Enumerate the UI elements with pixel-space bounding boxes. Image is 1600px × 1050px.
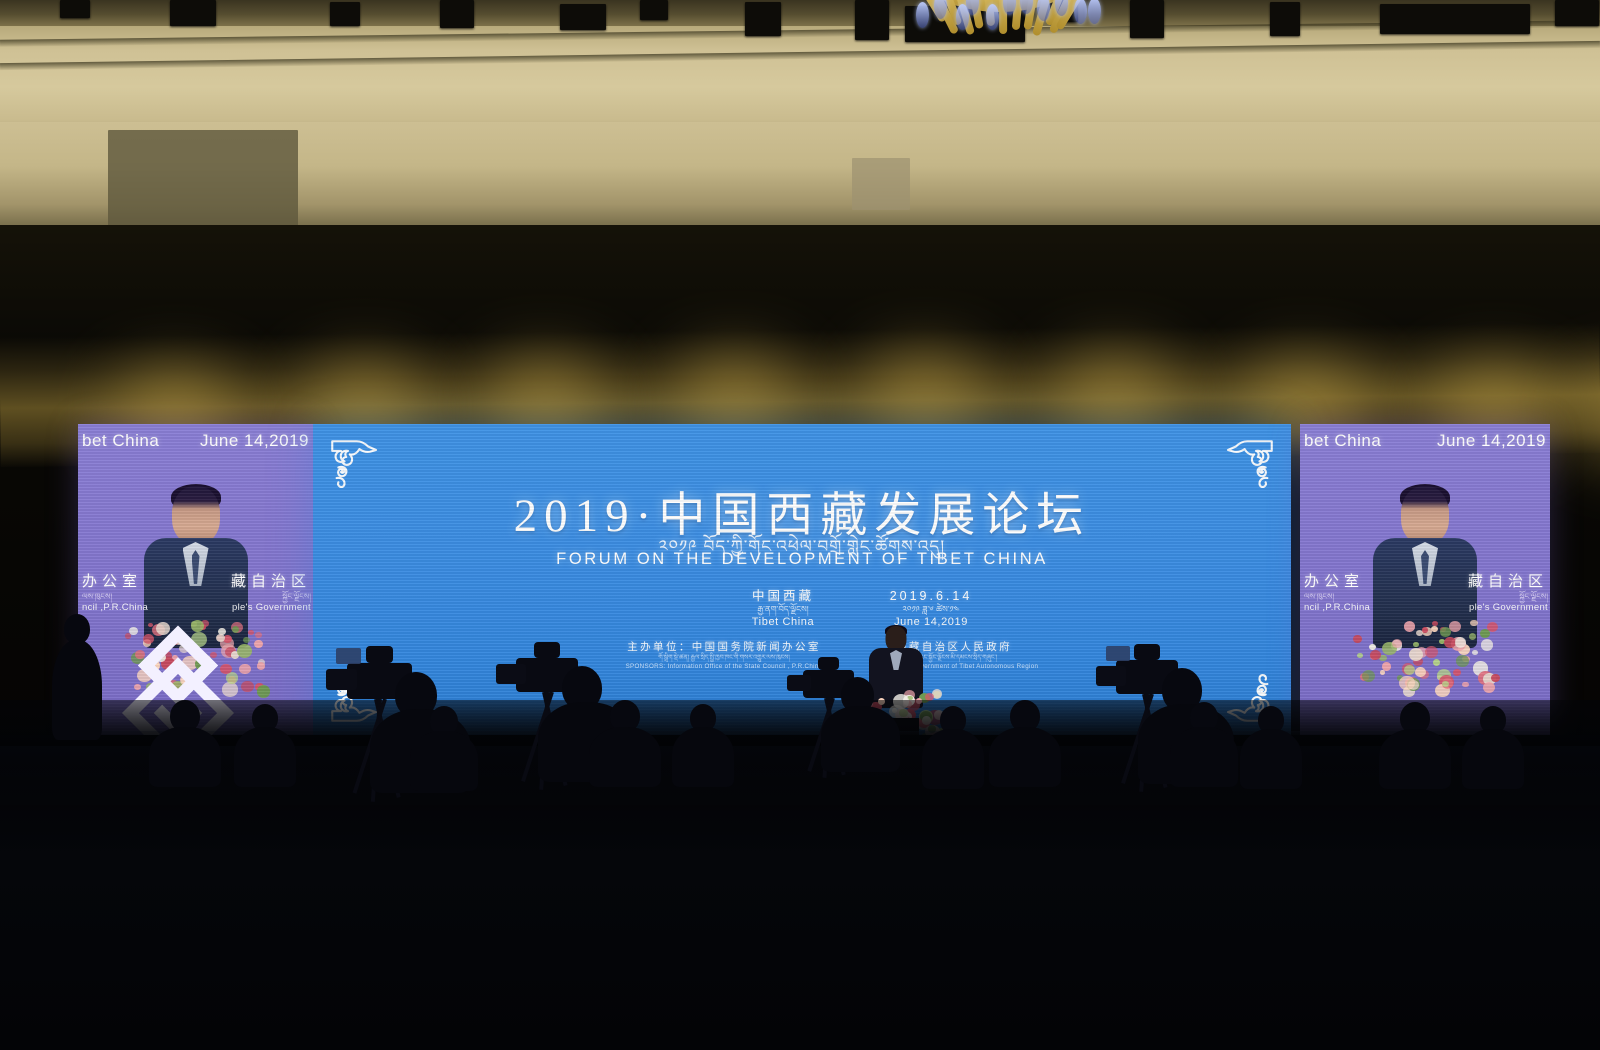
ceiling-spotlight [60,0,90,18]
ceiling-spotlight [745,2,781,36]
date-tibetan: ༢༠༡༩ ཟླ་༦ ཚེས་༡༤ [856,604,1006,615]
camera-monitor [336,648,361,664]
sponsor-cn-text: 办公室 [82,572,148,592]
attendant-body [52,640,102,740]
speaker-head [1401,486,1449,544]
ceiling-spotlight [440,0,474,28]
ceiling-spotlight [1555,0,1599,26]
ceiling-spotlight [330,2,360,26]
flower [257,662,265,669]
flower [243,637,250,644]
sponsor-tibetan-text: ལས་ཁུངས། [82,592,148,602]
sponsor-en-text: ple's Government [1468,602,1548,614]
chandelier-crystal [1074,0,1087,24]
camera-top-handle [818,657,839,670]
camera-lens [326,669,358,690]
place-block: 中国西藏 རྒྱ་ནག་བོད་ལྗོངས། Tibet China [723,588,843,629]
sponsor-en-text: ncil ,P.R.China [1304,602,1370,614]
ceiling-spotlight [560,4,606,30]
side-screen-date-text: June 14,2019 [200,431,309,451]
side-screen-place-text: bet China [1304,431,1381,451]
upper-wall [0,122,1600,232]
side-screen-topline: bet China June 14,2019 [1300,431,1550,451]
ceiling-spotlight [1380,4,1530,34]
flower [1404,621,1415,632]
sponsor-tibetan-text: ལས་ཁུངས། [1304,592,1370,602]
foreground-torso [922,729,984,789]
side-screen-sponsor-left: 办公室 ལས་ཁུངས། ncil ,P.R.China [82,572,148,614]
sponsor-cn-text: 藏自治区 [1468,572,1548,592]
wall-panel [108,130,298,234]
flower [1440,627,1450,637]
foreground-torso [1379,729,1451,789]
side-screen-flowers [1350,604,1500,690]
flower [1456,655,1468,666]
sponsor-tibetan-text: སྐྱོང་ལྗོངས། [231,592,311,602]
camera-lens [496,664,526,684]
flower [1431,626,1438,632]
flower [1413,642,1418,647]
flower [1399,676,1415,690]
camera-top-handle [534,642,560,658]
foreground-torso [1462,729,1524,789]
foreground-torso [149,727,221,787]
ceiling-spotlight [640,0,668,20]
flower [1432,621,1437,626]
flower [255,632,262,638]
side-screen-date-text: June 14,2019 [1437,431,1546,451]
sponsor-en-text: ple's Government [231,602,311,614]
camera-top-handle [1134,644,1160,660]
camera-operator-body [821,706,900,772]
flower [1449,621,1461,632]
side-screen-sponsor-left: 办公室 ལས་ཁུངས། ncil ,P.R.China [1304,572,1370,614]
sponsor-cn-text: 办公室 [1304,572,1370,592]
side-screen-place-text: bet China [82,431,159,451]
broadcast-camera-rig [790,652,888,775]
speaker-head [172,486,220,544]
place-cn: 中国西藏 [723,588,843,604]
side-screen-sponsor-right: 藏自治区 སྐྱོང་ལྗོངས། ple's Government [1468,572,1548,614]
ceiling-spotlight [1270,2,1300,36]
flower [1469,633,1477,640]
flower [1353,635,1362,643]
wall-panel [852,158,910,210]
sponsor-cn-text: 藏自治区 [231,572,311,592]
foreground-torso [410,731,477,791]
flower [1382,662,1391,670]
standing-attendant [52,614,102,742]
side-screen-right: bet China June 14,2019 办公室 ལས་ཁུངས། ncil… [1300,424,1550,736]
side-screen-topline: bet China June 14,2019 [78,431,313,451]
flower [1362,670,1376,683]
flower [1409,648,1423,661]
foreground-torso [589,727,661,787]
flower [1404,665,1415,675]
foreground-torso [672,727,734,787]
camera-monitor [1106,646,1130,661]
flower [1369,644,1376,650]
flower [1370,650,1381,660]
flower [1462,682,1468,688]
camera-lens [787,675,812,691]
ceiling-band [0,41,1600,70]
camera-top-handle [366,646,393,663]
foreground-torso [234,727,296,787]
date-block: 2019.6.14 ༢༠༡༩ ཟླ་༦ ཚེས་༡༤ June 14,2019 [856,588,1006,629]
flower [1481,639,1493,650]
chandelier-crystal [1088,0,1101,24]
flower [1472,650,1478,655]
flower [248,630,254,636]
sponsor-en-text: ncil ,P.R.China [82,602,148,614]
flower [1425,646,1438,658]
flower [1357,653,1363,659]
foreground-torso [1240,729,1302,789]
ceiling-soffit [0,0,1600,26]
chandelier-crystal [916,2,929,28]
ceiling-spotlight [170,0,216,26]
flower [1487,622,1498,632]
flower [1433,659,1440,666]
place-tibetan: རྒྱ་ནག་བོད་ལྗོངས། [723,604,843,615]
foreground-torso [989,727,1061,787]
camera-lens [1096,666,1126,686]
date-cn: 2019.6.14 [856,588,1006,604]
photo-scene: bet China June 14,2019 办公室 ལས་ཁུངས། ncil… [0,0,1600,1050]
foreground-torso [1170,727,1237,787]
flower [254,640,263,648]
flower [1380,670,1385,675]
sponsor-tibetan-text: སྐྱོང་ལྗོངས། [1468,592,1548,602]
forum-title-english: FORUM ON THE DEVELOPMENT OF TIBET CHINA [313,550,1291,569]
side-screen-sponsor-right: 藏自治区 སྐྱོང་ལྗོངས། ple's Government [231,572,311,614]
place-en: Tibet China [723,615,843,629]
golden-chandelier [855,0,1145,36]
flower [257,685,271,698]
flower [1491,674,1500,682]
flower [1453,669,1461,676]
flower [1483,682,1495,693]
chandelier-crystal [986,4,999,30]
flower [1470,620,1477,627]
